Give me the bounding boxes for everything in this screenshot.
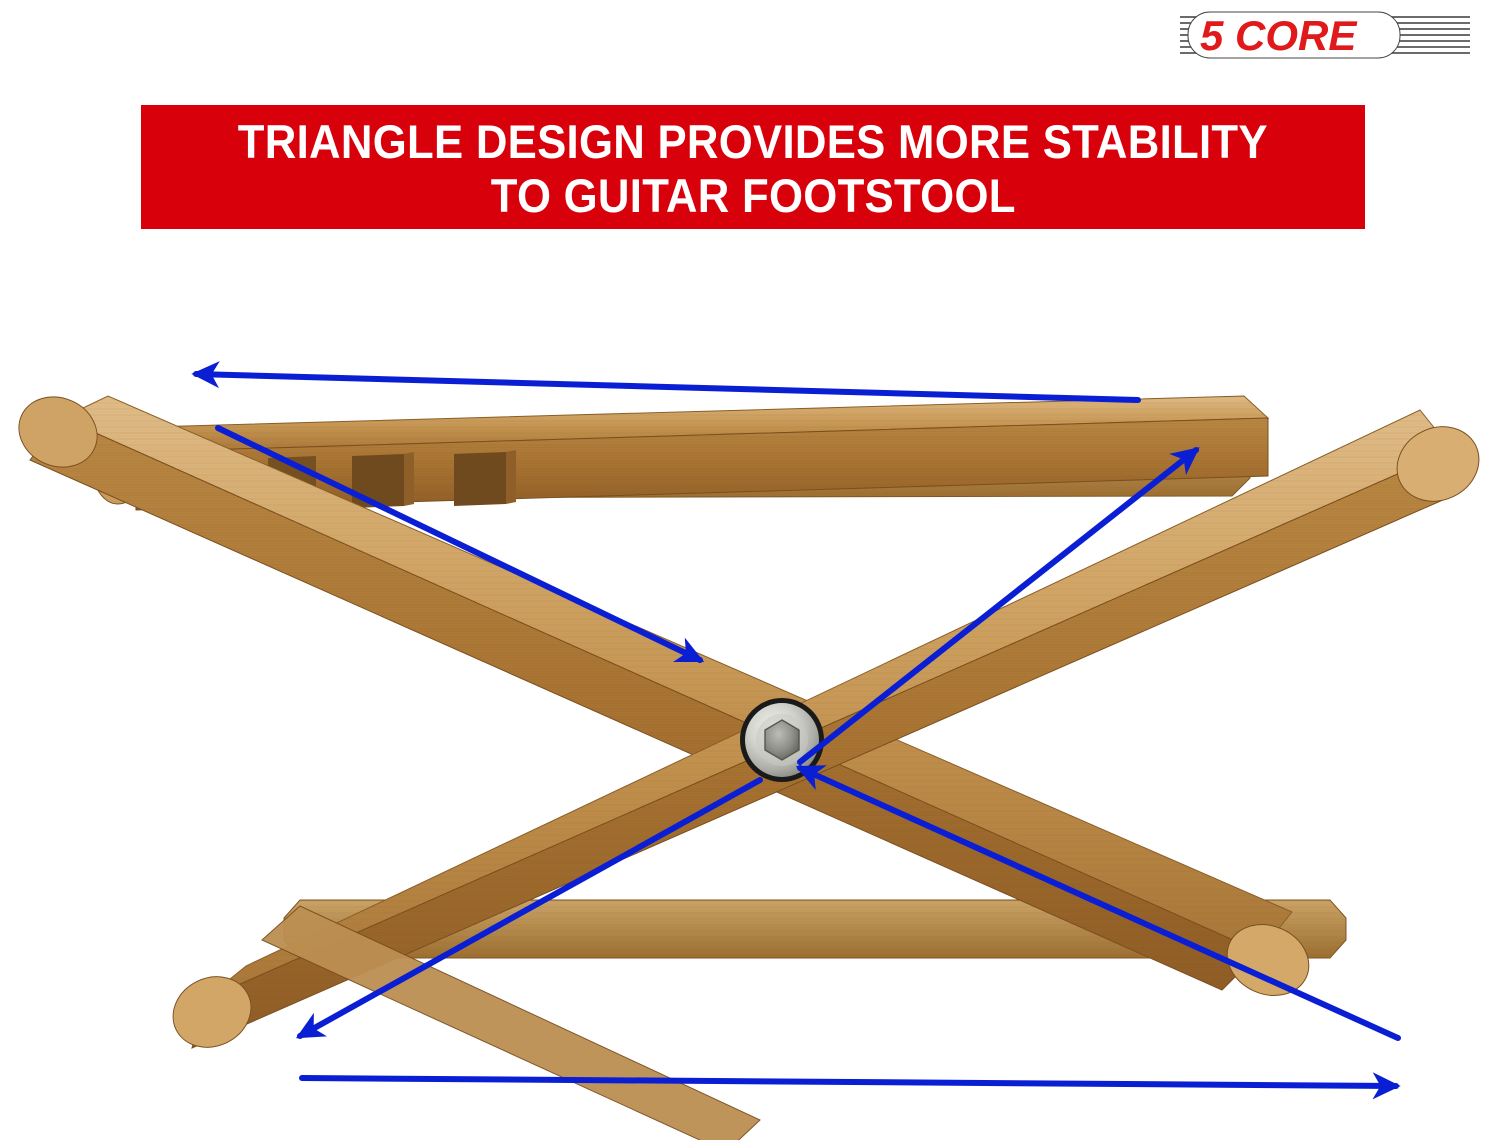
logo-text: 5 CORE (1200, 12, 1358, 59)
headline-line-2: TO GUITAR FOOTSTOOL (491, 169, 1016, 223)
product-marketing-image: 5 CORE TRIANGLE DESIGN PROVIDES MORE STA… (0, 0, 1500, 1140)
headline-banner: TRIANGLE DESIGN PROVIDES MORE STABILITY … (141, 105, 1365, 229)
pivot-bolt (740, 698, 824, 782)
5-core-logo: 5 CORE (1180, 8, 1470, 62)
headline-line-1: TRIANGLE DESIGN PROVIDES MORE STABILITY (238, 115, 1268, 169)
arrow-bottom-horizontal (302, 1078, 1396, 1086)
arrow-top-horizontal (196, 374, 1138, 400)
product-image-bamboo-footstool (0, 300, 1500, 1140)
